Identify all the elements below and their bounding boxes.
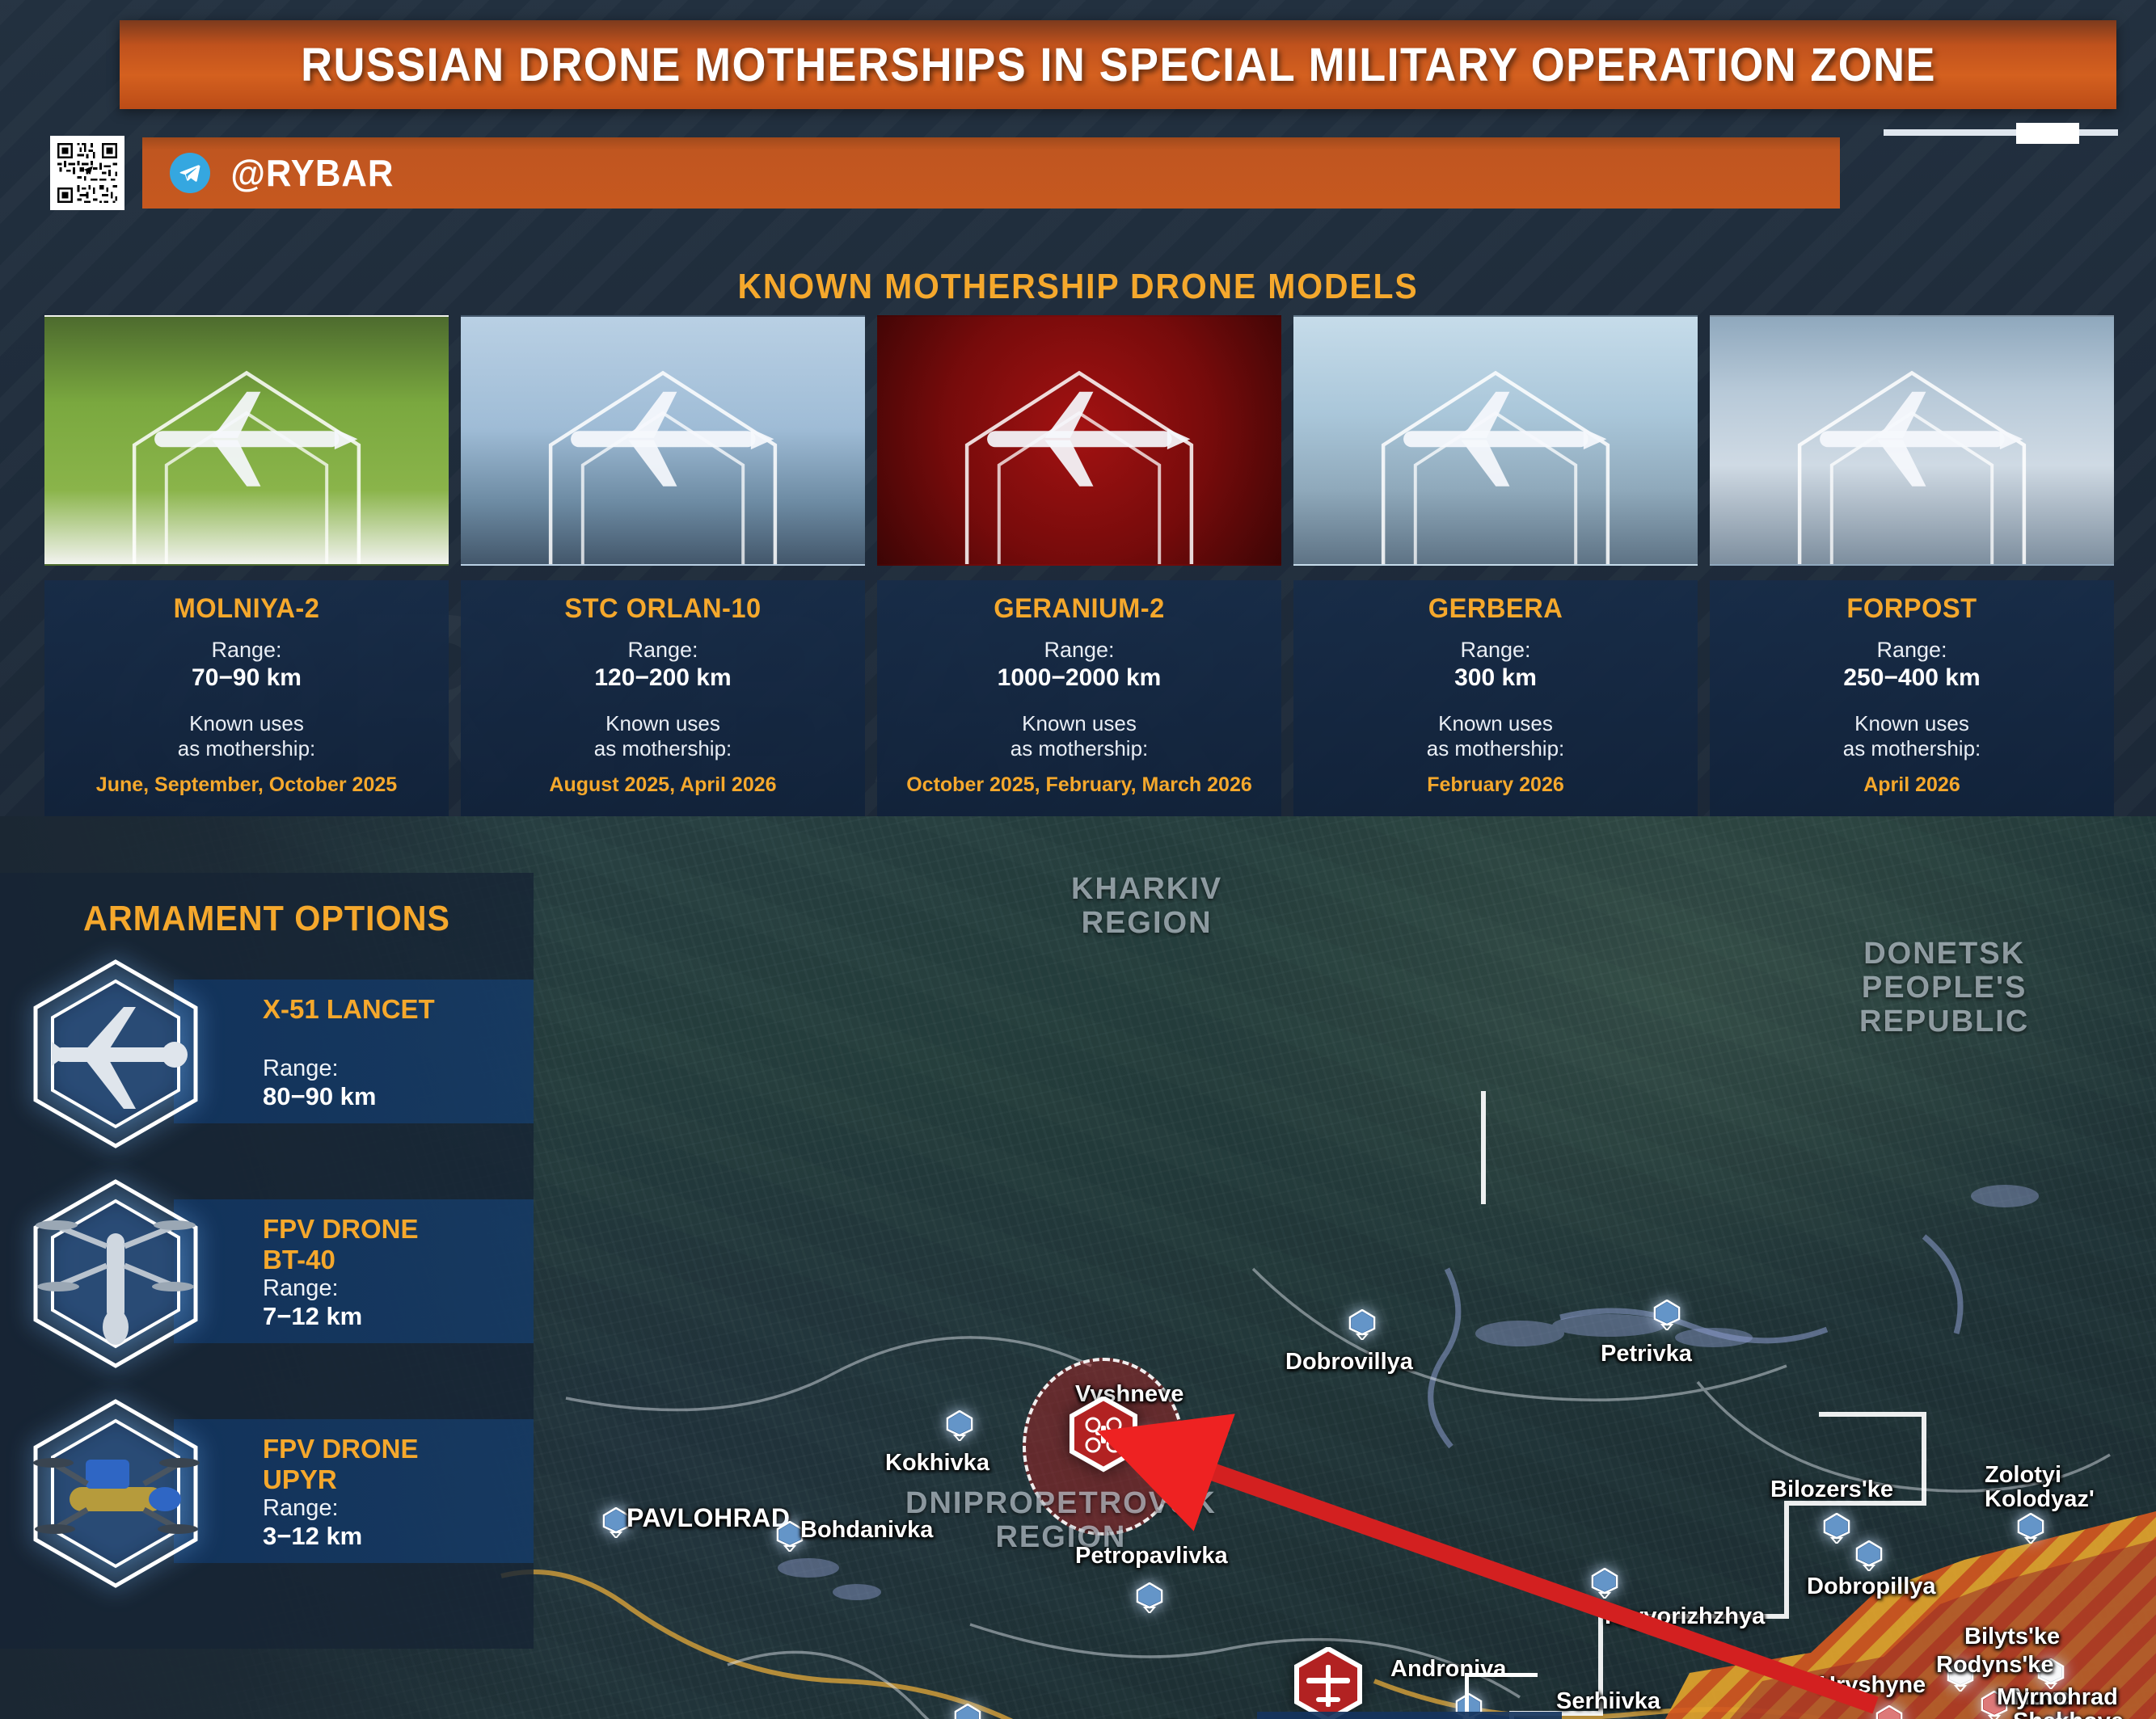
- drone-model-card: GERBERA Range: 300 km Known usesas mothe…: [1293, 315, 1698, 816]
- drone-silhouette-icon: [911, 371, 1248, 509]
- armament-info-strip: X-51 LANCET Range: 80−90 km: [174, 980, 534, 1123]
- uses-value: August 2025, April 2026: [469, 773, 857, 797]
- map-callout: ~7 km Strike radiusof launched FPV drone: [1257, 1712, 1562, 1719]
- drone-silhouette-icon: [1744, 371, 2081, 509]
- drone-model-photo: [1710, 315, 2114, 566]
- uses-label: Known usesas mothership:: [53, 711, 441, 760]
- header-accent-knob: [2016, 123, 2079, 144]
- range-value: 70−90 km: [53, 664, 441, 692]
- range-value: 250−400 km: [1718, 664, 2106, 692]
- armament-panel: ARMAMENT OPTIONS X-51 LANCET Range: 80−9…: [0, 873, 534, 1649]
- drone-model-name: MOLNIYA-2: [61, 593, 433, 625]
- armament-name: X-51 LANCET: [263, 994, 435, 1025]
- armament-range: Range: 7−12 km: [263, 1275, 362, 1332]
- range-label: Range:: [1718, 638, 2106, 663]
- title-bar: RUSSIAN DRONE MOTHERSHIPS IN SPECIAL MIL…: [120, 20, 2116, 109]
- drone-model-photo: [461, 315, 865, 566]
- armament-heading: ARMAMENT OPTIONS: [16, 899, 517, 939]
- drone-models-row: MOLNIYA-2 Range: 70−90 km Known usesas m…: [44, 315, 2114, 816]
- drone-model-photo: [44, 315, 449, 566]
- drone-silhouette-icon: [1327, 371, 1664, 509]
- drone-silhouette-icon: [495, 371, 832, 509]
- models-section-heading: KNOWN MOTHERSHIP DRONE MODELS: [75, 267, 2080, 307]
- armament-hex-icon: [23, 1397, 209, 1590]
- header: RUSSIAN DRONE MOTHERSHIPS IN SPECIAL MIL…: [0, 0, 2156, 226]
- telegram-handle-label: @RYBAR: [230, 151, 394, 195]
- qr-code-icon: [50, 136, 124, 210]
- drone-model-info: FORPOST Range: 250−400 km Known usesas m…: [1710, 580, 2114, 816]
- armament-range: Range: 3−12 km: [263, 1495, 362, 1552]
- header-accent-line: [1884, 129, 2118, 136]
- uses-label: Known usesas mothership:: [1718, 711, 2106, 760]
- uses-label: Known usesas mothership:: [1302, 711, 1690, 760]
- telegram-handle-bar[interactable]: @RYBAR: [142, 137, 1840, 209]
- range-label: Range:: [53, 638, 441, 663]
- uses-value: October 2025, February, March 2026: [885, 773, 1273, 797]
- uses-value: February 2026: [1302, 773, 1690, 797]
- range-label: Range:: [469, 638, 857, 663]
- drone-model-info: GERBERA Range: 300 km Known usesas mothe…: [1293, 580, 1698, 816]
- drone-model-photo: [1293, 315, 1698, 566]
- armament-item: FPV DRONEBT-40 Range: 7−12 km: [0, 1170, 534, 1379]
- telegram-icon: [170, 153, 210, 193]
- armament-hex-icon: [23, 1177, 209, 1371]
- drone-model-card: STC ORLAN-10 Range: 120−200 km Known use…: [461, 315, 865, 816]
- drone-model-info: GERANIUM-2 Range: 1000−2000 km Known use…: [877, 580, 1281, 816]
- uses-label: Known usesas mothership:: [469, 711, 857, 760]
- range-label: Range:: [885, 638, 1273, 663]
- armament-hex-icon: [23, 957, 209, 1151]
- uses-value: April 2026: [1718, 773, 2106, 797]
- armament-item: FPV DRONEUPYR Range: 3−12 km: [0, 1390, 534, 1599]
- armament-item: X-51 LANCET Range: 80−90 km: [0, 950, 534, 1159]
- uses-label: Known usesas mothership:: [885, 711, 1273, 760]
- range-value: 300 km: [1302, 664, 1690, 692]
- drone-model-card: GERANIUM-2 Range: 1000−2000 km Known use…: [877, 315, 1281, 816]
- drone-silhouette-icon: [78, 371, 416, 509]
- drone-model-info: MOLNIYA-2 Range: 70−90 km Known usesas m…: [44, 580, 449, 816]
- range-label: Range:: [1302, 638, 1690, 663]
- armament-info-strip: FPV DRONEBT-40 Range: 7−12 km: [174, 1199, 534, 1343]
- uses-value: June, September, October 2025: [53, 773, 441, 797]
- drone-model-name: GERANIUM-2: [893, 593, 1266, 625]
- drone-model-card: MOLNIYA-2 Range: 70−90 km Known usesas m…: [44, 315, 449, 816]
- drone-model-card: FORPOST Range: 250−400 km Known usesas m…: [1710, 315, 2114, 816]
- drone-model-photo: [877, 315, 1281, 566]
- armament-range: Range: 80−90 km: [263, 1055, 376, 1112]
- page-title: RUSSIAN DRONE MOTHERSHIPS IN SPECIAL MIL…: [301, 38, 1936, 92]
- armament-info-strip: FPV DRONEUPYR Range: 3−12 km: [174, 1419, 534, 1563]
- drone-model-name: GERBERA: [1310, 593, 1682, 625]
- armament-name: FPV DRONEUPYR: [263, 1434, 419, 1494]
- armament-name: FPV DRONEBT-40: [263, 1214, 419, 1275]
- range-value: 120−200 km: [469, 664, 857, 692]
- drone-model-name: STC ORLAN-10: [477, 593, 850, 625]
- drone-model-name: FORPOST: [1726, 593, 2099, 625]
- range-value: 1000−2000 km: [885, 664, 1273, 692]
- callout-leader-2-h: [1465, 1673, 1538, 1677]
- drone-model-info: STC ORLAN-10 Range: 120−200 km Known use…: [461, 580, 865, 816]
